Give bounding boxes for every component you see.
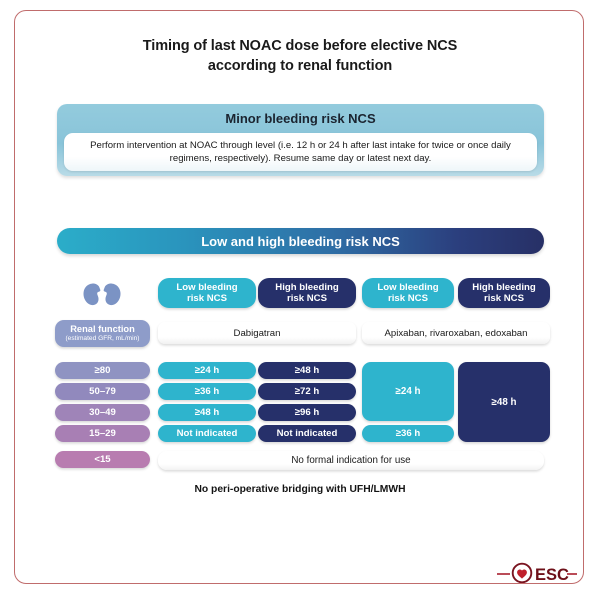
footnote: No peri-operative bridging with UFH/LMWH [0, 484, 600, 495]
cell-factorxa-high-merged: ≥48 h [458, 362, 550, 442]
column-header-line1: High bleeding [472, 282, 535, 293]
gfr-label: 30–49 [89, 407, 116, 418]
kidney-icon [80, 283, 124, 311]
column-header-line2: risk NCS [484, 293, 524, 304]
cell-dabigatran-high-1: ≥48 h [258, 362, 356, 379]
drug-group-label: Apixaban, rivaroxaban, edoxaban [385, 328, 528, 339]
column-header-dabigatran-high[interactable]: High bleeding risk NCS [258, 278, 356, 308]
cell-dabigatran-low-4: Not indicated [158, 425, 256, 442]
column-header-line1: High bleeding [275, 282, 338, 293]
esc-logo: ESC [497, 561, 577, 583]
cell-dabigatran-low-3: ≥48 h [158, 404, 256, 421]
table-row-gfr-1: ≥80 [55, 362, 150, 379]
cell-value: ≥24 h [396, 386, 421, 397]
cell-factorxa-low-4: ≥36 h [362, 425, 454, 442]
gfr-label: <15 [94, 454, 110, 465]
table-row-gfr-2: 50–79 [55, 383, 150, 400]
cell-dabigatran-low-2: ≥36 h [158, 383, 256, 400]
gfr-label: ≥80 [95, 365, 111, 376]
table-row-gfr-5: <15 [55, 451, 150, 468]
table-row-gfr-4: 15–29 [55, 425, 150, 442]
drug-group-dabigatran: Dabigatran [158, 322, 356, 344]
table-row-gfr-3: 30–49 [55, 404, 150, 421]
column-header-line2: risk NCS [388, 293, 428, 304]
cell-value: ≥24 h [195, 365, 219, 376]
column-header-line1: Low bleeding [377, 282, 438, 293]
renal-function-title: Renal function [70, 324, 135, 335]
renal-function-unit: (estimated GFR, mL/min) [65, 335, 139, 344]
gfr-label: 15–29 [89, 428, 116, 439]
drug-group-label: Dabigatran [234, 328, 281, 339]
drug-group-factorxa: Apixaban, rivaroxaban, edoxaban [362, 322, 550, 344]
cell-value: ≥48 h [492, 397, 517, 408]
cell-dabigatran-high-4: Not indicated [258, 425, 356, 442]
cell-value: Not indicated [277, 428, 338, 439]
dosing-table: Renal function (estimated GFR, mL/min) L… [0, 0, 600, 598]
gfr-label: 50–79 [89, 386, 116, 397]
cell-value: Not indicated [177, 428, 238, 439]
cell-dabigatran-low-1: ≥24 h [158, 362, 256, 379]
cell-value: ≥48 h [295, 365, 319, 376]
cell-value: No formal indication for use [291, 455, 410, 466]
cell-value: ≥96 h [295, 407, 319, 418]
column-header-factorxa-high[interactable]: High bleeding risk NCS [458, 278, 550, 308]
esc-logo-text: ESC [535, 566, 569, 583]
cell-value: ≥48 h [195, 407, 219, 418]
cell-factorxa-low-merged: ≥24 h [362, 362, 454, 421]
column-header-factorxa-low[interactable]: Low bleeding risk NCS [362, 278, 454, 308]
column-header-line2: risk NCS [287, 293, 327, 304]
renal-function-label: Renal function (estimated GFR, mL/min) [55, 320, 150, 347]
cell-dabigatran-high-2: ≥72 h [258, 383, 356, 400]
cell-value: ≥36 h [195, 386, 219, 397]
column-header-line2: risk NCS [187, 293, 227, 304]
cell-value: ≥72 h [295, 386, 319, 397]
column-header-dabigatran-low[interactable]: Low bleeding risk NCS [158, 278, 256, 308]
column-header-line1: Low bleeding [176, 282, 237, 293]
cell-dabigatran-high-3: ≥96 h [258, 404, 356, 421]
cell-value: ≥36 h [396, 428, 420, 439]
cell-no-formal-indication: No formal indication for use [158, 451, 544, 470]
